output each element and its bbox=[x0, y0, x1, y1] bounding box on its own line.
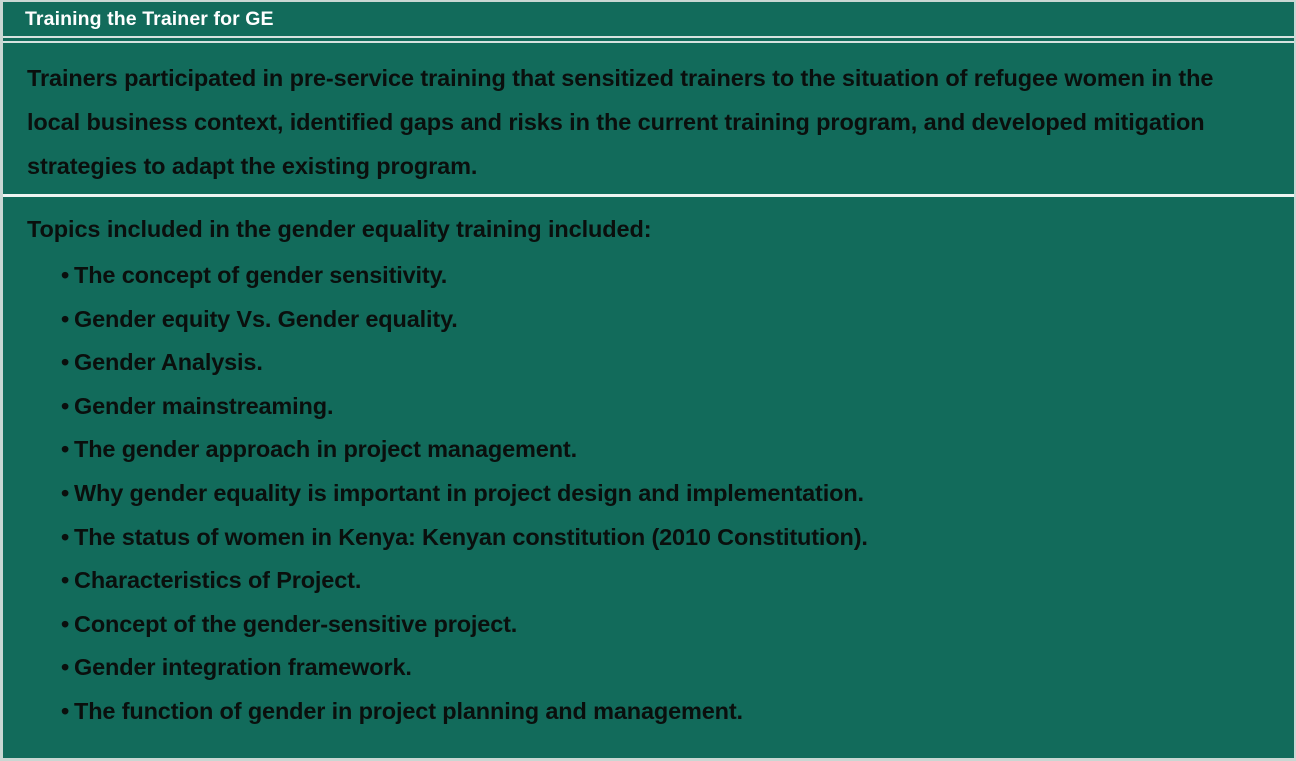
list-item: • Gender integration framework. bbox=[61, 646, 1270, 690]
list-item-label: Concept of the gender-sensitive project. bbox=[74, 603, 517, 647]
list-item-label: The concept of gender sensitivity. bbox=[74, 254, 447, 298]
list-item: • The function of gender in project plan… bbox=[61, 690, 1270, 734]
bullet-icon: • bbox=[61, 254, 74, 298]
list-item-label: The status of women in Kenya: Kenyan con… bbox=[74, 516, 868, 560]
bullet-icon: • bbox=[61, 428, 74, 472]
bullet-icon: • bbox=[61, 298, 74, 342]
list-item: • Gender mainstreaming. bbox=[61, 385, 1270, 429]
list-item-label: The gender approach in project managemen… bbox=[74, 428, 577, 472]
list-item-label: Characteristics of Project. bbox=[74, 559, 361, 603]
topics-section: Topics included in the gender equality t… bbox=[3, 197, 1294, 734]
bullet-icon: • bbox=[61, 646, 74, 690]
list-item: • The concept of gender sensitivity. bbox=[61, 254, 1270, 298]
list-item-label: Gender mainstreaming. bbox=[74, 385, 333, 429]
bullet-icon: • bbox=[61, 559, 74, 603]
bullet-icon: • bbox=[61, 690, 74, 734]
bullet-icon: • bbox=[61, 603, 74, 647]
list-item: • Gender equity Vs. Gender equality. bbox=[61, 298, 1270, 342]
intro-section: Trainers participated in pre-service tra… bbox=[3, 43, 1294, 194]
list-item: • Concept of the gender-sensitive projec… bbox=[61, 603, 1270, 647]
list-item-label: Gender Analysis. bbox=[74, 341, 263, 385]
bullet-icon: • bbox=[61, 385, 74, 429]
list-item-label: Gender equity Vs. Gender equality. bbox=[74, 298, 458, 342]
list-item-label: Why gender equality is important in proj… bbox=[74, 472, 864, 516]
panel-header: Training the Trainer for GE bbox=[3, 2, 1294, 36]
list-item: • Characteristics of Project. bbox=[61, 559, 1270, 603]
intro-paragraph: Trainers participated in pre-service tra… bbox=[27, 56, 1264, 188]
bullet-icon: • bbox=[61, 472, 74, 516]
bullet-icon: • bbox=[61, 341, 74, 385]
list-item: • The status of women in Kenya: Kenyan c… bbox=[61, 516, 1270, 560]
bullet-icon: • bbox=[61, 516, 74, 560]
list-item: • Why gender equality is important in pr… bbox=[61, 472, 1270, 516]
page-title: Training the Trainer for GE bbox=[25, 8, 274, 31]
topics-list: • The concept of gender sensitivity. • G… bbox=[27, 254, 1270, 734]
list-item-label: The function of gender in project planni… bbox=[74, 690, 743, 734]
topics-heading: Topics included in the gender equality t… bbox=[27, 213, 1270, 245]
list-item: • Gender Analysis. bbox=[61, 341, 1270, 385]
info-panel: Training the Trainer for GE Trainers par… bbox=[0, 0, 1296, 761]
list-item-label: Gender integration framework. bbox=[74, 646, 412, 690]
list-item: • The gender approach in project managem… bbox=[61, 428, 1270, 472]
